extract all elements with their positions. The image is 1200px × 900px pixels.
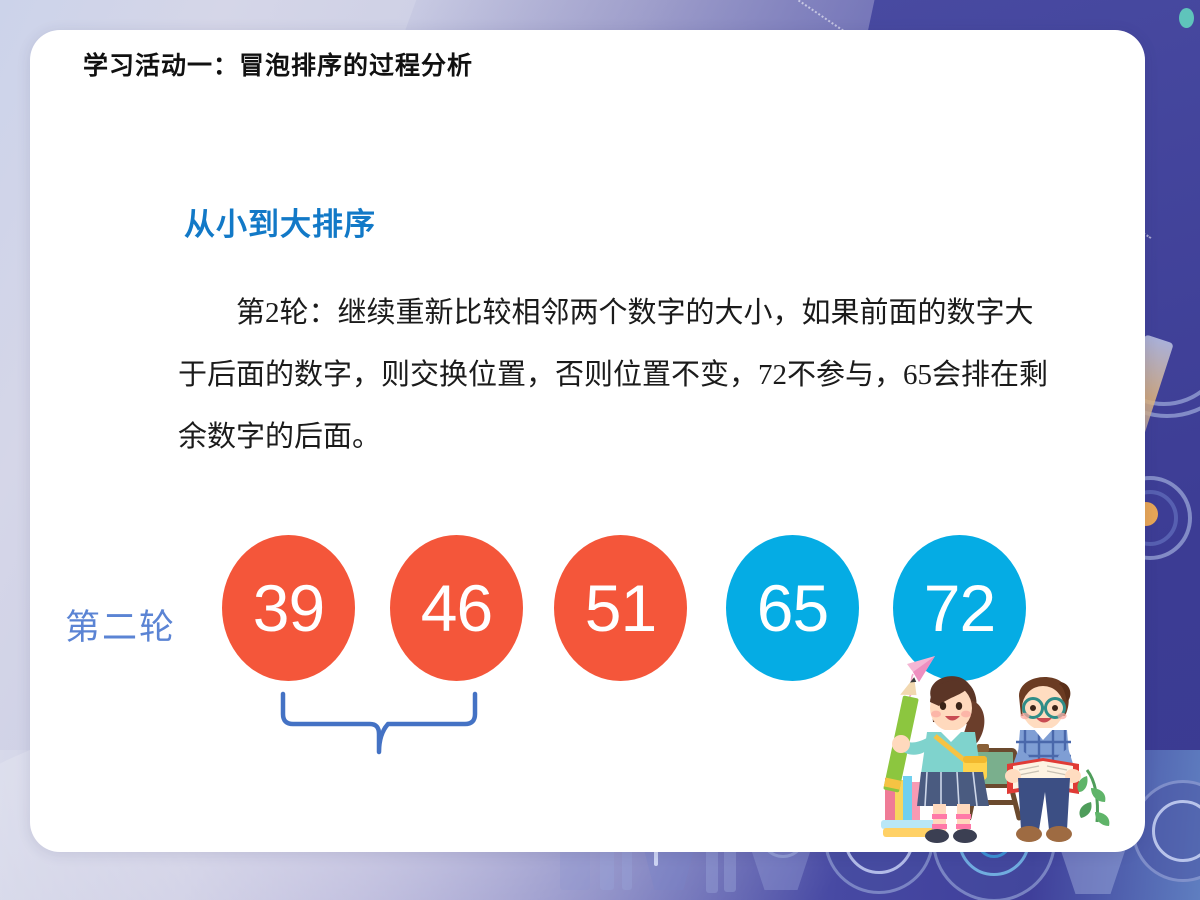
comparison-brace-icon	[275, 690, 485, 760]
bubble-value: 65	[757, 570, 828, 646]
bubble-value: 72	[924, 570, 995, 646]
bubble-value: 46	[421, 570, 492, 646]
page-title: 学习活动一：冒泡排序的过程分析	[83, 46, 473, 82]
students-illustration	[873, 652, 1123, 852]
bubble-value: 39	[253, 570, 324, 646]
number-bubble-3[interactable]: 65	[726, 535, 859, 681]
bubble-value: 51	[585, 570, 656, 646]
number-bubble-2[interactable]: 51	[554, 535, 687, 681]
plant-icon	[1077, 770, 1109, 826]
slide-canvas: 学习活动一：冒泡排序的过程分析 从小到大排序 第2轮：继续重新比较相邻两个数字的…	[0, 0, 1200, 900]
slide-card: 学习活动一：冒泡排序的过程分析 从小到大排序 第2轮：继续重新比较相邻两个数字的…	[30, 30, 1145, 852]
teal-dot-icon	[1179, 8, 1194, 28]
round-label: 第二轮	[65, 599, 176, 650]
pencil-icon	[883, 675, 920, 792]
section-subheading: 从小到大排序	[184, 199, 376, 244]
number-bubble-0[interactable]: 39	[222, 535, 355, 681]
body-paragraph: 第2轮：继续重新比较相邻两个数字的大小，如果前面的数字大于后面的数字，则交换位置…	[178, 282, 1058, 468]
number-bubble-1[interactable]: 46	[390, 535, 523, 681]
